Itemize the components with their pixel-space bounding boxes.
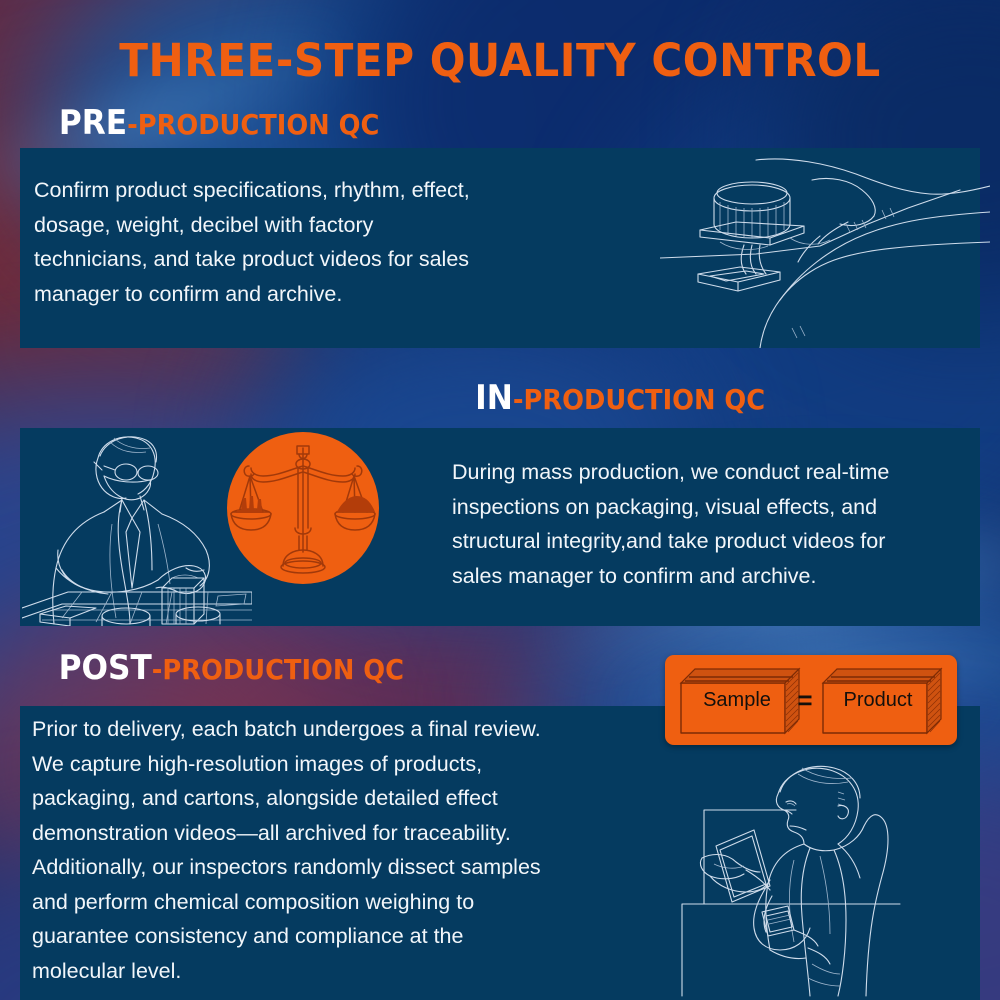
section-heading-suffix: -PRODUCTION QC [513,383,765,416]
product-label: Product [823,689,933,712]
equals-operator: = [791,685,819,716]
body-text-post-production: Prior to delivery, each batch undergoes … [32,712,652,988]
section-heading-in-production: IN-PRODUCTION QC [475,378,765,418]
section-heading-prefix: POST [59,648,152,688]
page-title: THREE-STEP QUALITY CONTROL [0,34,1000,87]
section-heading-post-production: POST-PRODUCTION QC [59,648,404,688]
section-heading-suffix: -PRODUCTION QC [152,653,404,686]
body-text-pre-production: Confirm product specifications, rhythm, … [34,173,594,311]
sample-label: Sample [685,689,789,712]
section-heading-pre-production: PRE-PRODUCTION QC [59,103,379,143]
hand-holding-product-sketch-icon [660,150,990,348]
technician-inspecting-products-sketch-icon [22,428,252,626]
balance-scale-icon [227,432,379,584]
section-heading-prefix: IN [475,378,513,418]
inspector-with-tablet-sketch-icon [662,752,982,1000]
section-heading-prefix: PRE [59,103,127,143]
section-heading-suffix: -PRODUCTION QC [127,108,379,141]
body-text-in-production: During mass production, we conduct real-… [452,455,972,593]
sample-equals-product-badge: Sample = Product [665,655,957,745]
